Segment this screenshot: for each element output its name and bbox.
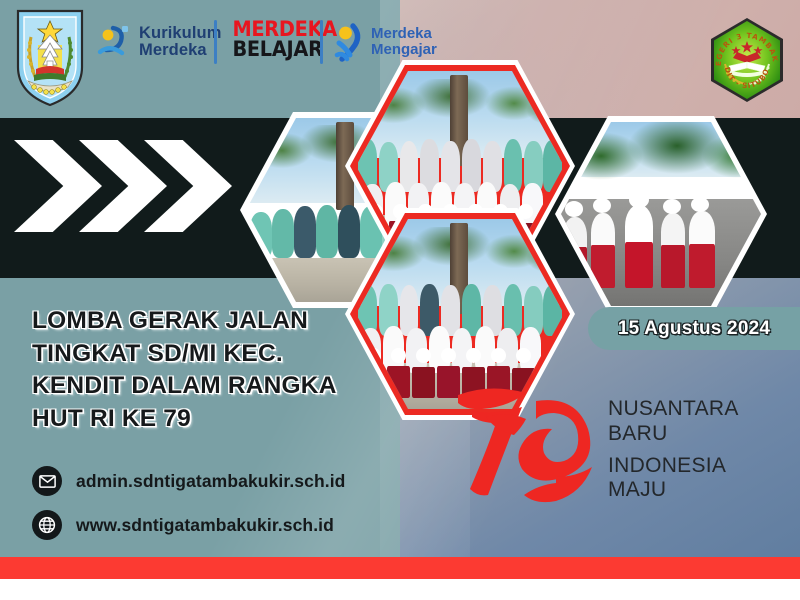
bottom-white-band (0, 579, 800, 600)
photo-marching-parade (555, 116, 767, 312)
contact-row-email: admin.sdntigatambakukir.sch.id (32, 462, 432, 500)
tagline-line-1: NUSANTARA (608, 397, 739, 422)
mb-line-2: BELAJAR (232, 39, 311, 60)
hut-ri-tagline: NUSANTARA BARU INDONESIA MAJU (608, 397, 739, 503)
merdeka-mengajar-logo: Merdeka Mengajar (333, 18, 437, 66)
title-line-2: TINGKAT SD/MI KEC. (32, 338, 412, 371)
east-java-provincial-emblem-icon (14, 5, 86, 109)
contact-row-website: www.sdntigatambakukir.sch.id (32, 506, 432, 544)
km-line-1: Kurikulum (139, 25, 222, 42)
event-date-text: 15 Agustus 2024 (618, 318, 770, 340)
logo-divider-2 (320, 20, 323, 64)
merdeka-mengajar-mark-icon (333, 21, 365, 63)
merdeka-belajar-logo: MERDEKA BELAJAR (229, 19, 315, 60)
mm-line-1: Merdeka (371, 26, 437, 42)
poster-canvas: Kurikulum Merdeka MERDEKA BELAJAR Merd (0, 0, 800, 600)
km-line-2: Merdeka (139, 42, 222, 59)
logo-divider-1 (214, 20, 217, 64)
email-address[interactable]: admin.sdntigatambakukir.sch.id (76, 471, 345, 492)
bottom-red-band (0, 557, 800, 579)
globe-icon (32, 510, 62, 540)
title-line-3: KENDIT DALAM RANGKA (32, 370, 412, 403)
event-date-badge: 15 Agustus 2024 (588, 307, 800, 350)
chevron-right-icon (14, 140, 102, 232)
kurikulum-merdeka-wordmark: Kurikulum Merdeka (139, 25, 222, 60)
tagline-line-2: BARU (608, 422, 739, 447)
mm-line-2: Mengajar (371, 42, 437, 58)
mb-line-1: MERDEKA (232, 19, 311, 39)
tagline-line-4: MAJU (608, 478, 739, 503)
kurikulum-merdeka-logo: Kurikulum Merdeka (96, 18, 222, 66)
kurikulum-merdeka-mark-icon (96, 22, 132, 62)
chevron-decoration (14, 140, 229, 232)
hut-ri-79-logo: NUSANTARA BARU INDONESIA MAJU (452, 385, 792, 505)
merdeka-mengajar-wordmark: Merdeka Mengajar (371, 26, 437, 58)
contact-info: admin.sdntigatambakukir.sch.id www.sdnti… (32, 462, 432, 550)
title-line-4: HUT RI KE 79 (32, 403, 412, 436)
tagline-line-3: INDONESIA (608, 454, 739, 479)
page-title: LOMBA GERAK JALAN TINGKAT SD/MI KEC. KEN… (32, 305, 412, 435)
envelope-icon (32, 466, 62, 496)
title-line-1: LOMBA GERAK JALAN (32, 305, 412, 338)
hut-ri-79-numeral-icon (452, 385, 602, 503)
website-url[interactable]: www.sdntigatambakukir.sch.id (76, 515, 334, 536)
